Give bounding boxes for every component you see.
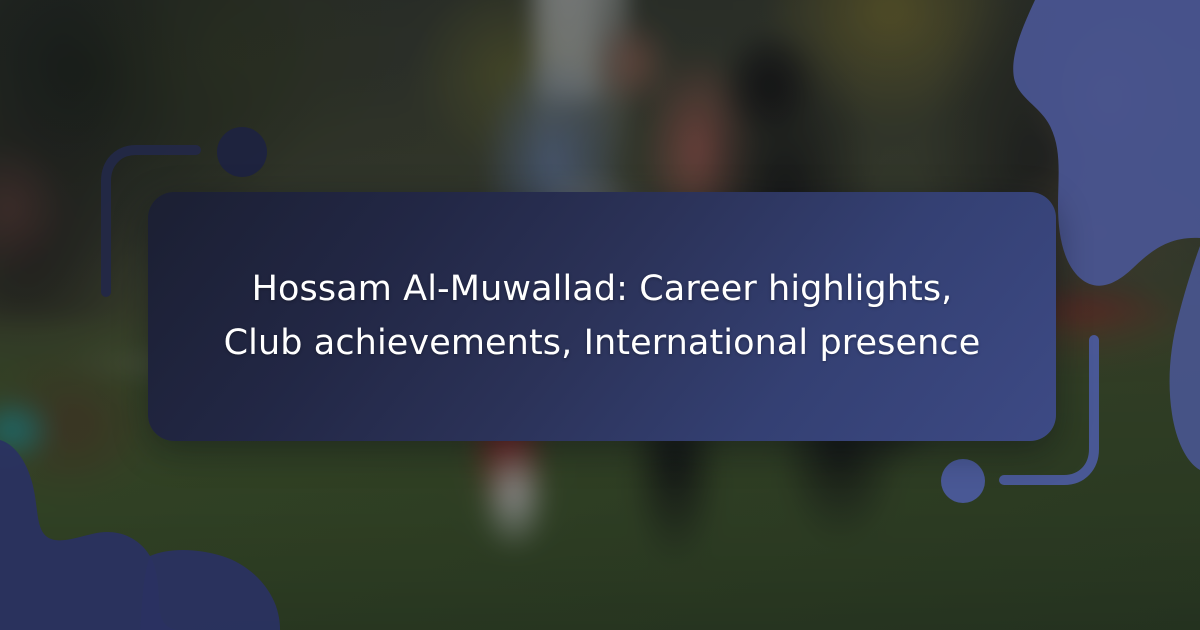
bottom-left-blob-lobe [140,550,280,630]
page-title: Hossam Al-Muwallad: Career highlights, C… [212,263,992,369]
social-card-canvas: Hossam Al-Muwallad: Career highlights, C… [0,0,1200,630]
top-left-dot [217,127,267,177]
right-edge-blob-tail [1170,246,1200,470]
bottom-right-dot [941,459,985,503]
headline-card: Hossam Al-Muwallad: Career highlights, C… [148,192,1056,441]
